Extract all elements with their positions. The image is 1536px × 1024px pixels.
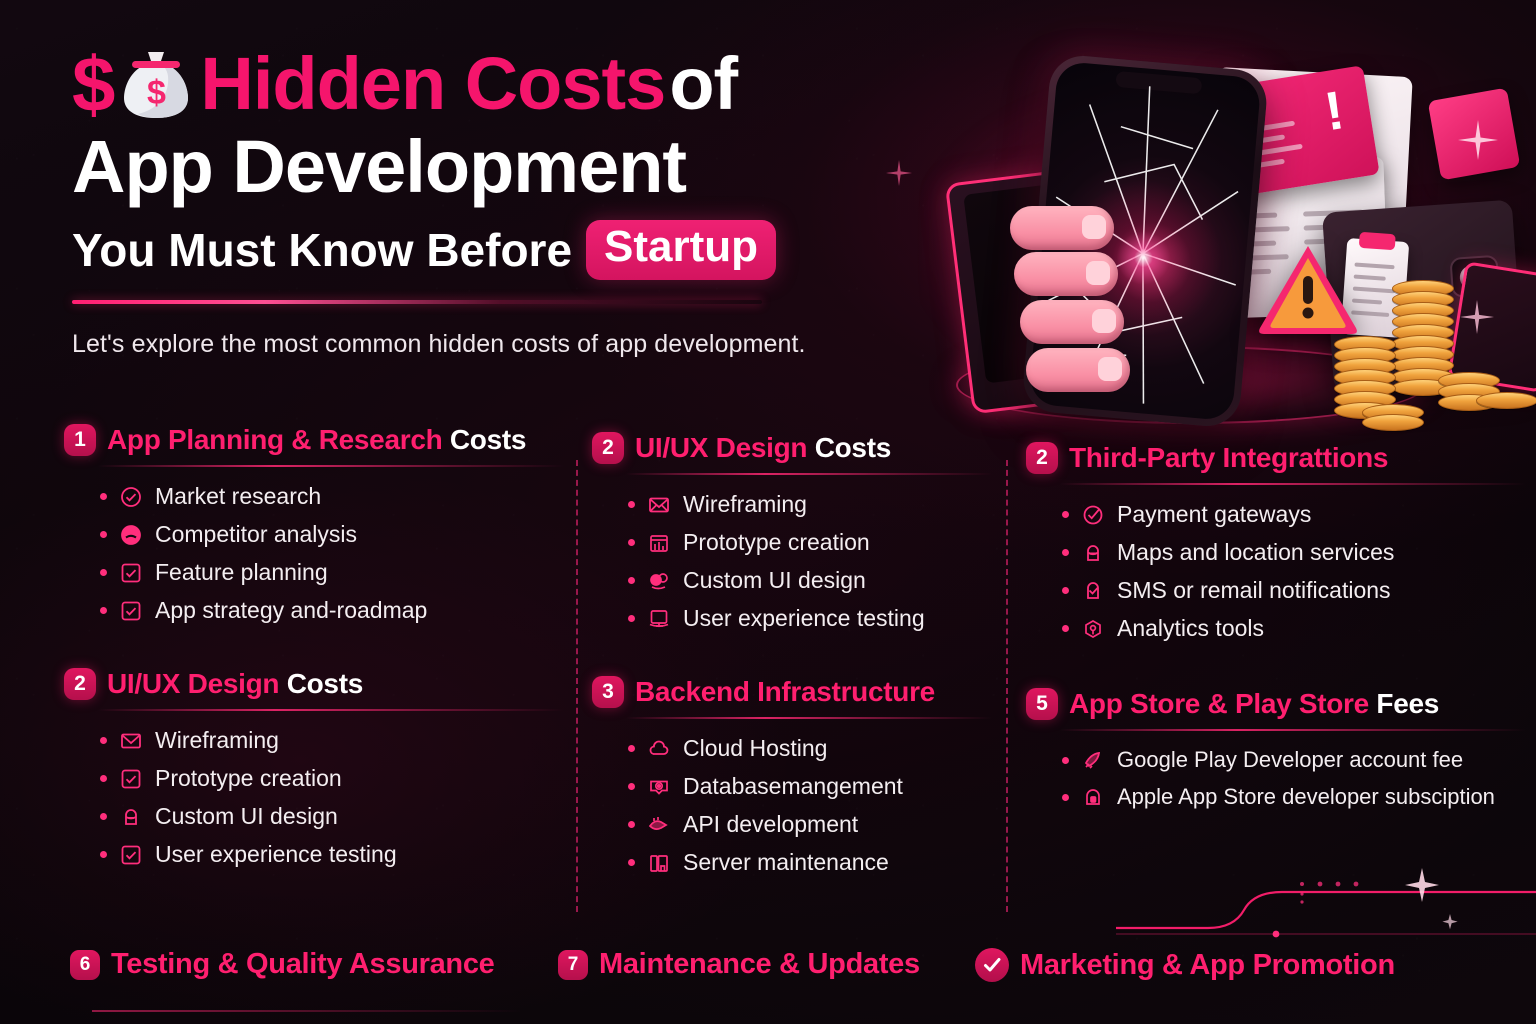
database-icon — [646, 774, 672, 800]
list-item-label: Maps and location services — [1117, 539, 1394, 566]
section-title: App Planning & Research Costs — [107, 424, 526, 456]
section-card: 2 UI/UX Design Costs Wireframing — [592, 432, 992, 632]
envelope-icon — [646, 492, 672, 518]
section-item-list: Wireframing Prototype creation Custom UI… — [628, 491, 992, 632]
header-divider — [72, 300, 762, 304]
section-number-badge: 2 — [592, 432, 624, 464]
section-number-badge: 3 — [592, 676, 624, 708]
analytics-icon — [1080, 616, 1106, 642]
list-item: Wireframing — [100, 727, 564, 754]
section-header: 2 Third-Party Integrattions — [1026, 442, 1526, 474]
envelope-icon — [118, 728, 144, 754]
page-subtitle-prefix: You Must Know Before — [72, 223, 572, 277]
section-title-pink: App Store & Play Store — [1069, 688, 1369, 719]
check-circle-icon — [118, 484, 144, 510]
section-underline — [626, 717, 992, 719]
list-item-label: Prototype creation — [155, 765, 342, 792]
column-1: 1 App Planning & Research Costs Market r… — [64, 424, 564, 879]
dollar-sign-icon: $ — [72, 46, 114, 122]
check-icon — [975, 948, 1009, 982]
bottom-item-label: Maintenance & Updates — [599, 948, 920, 981]
list-item-label: Analytics tools — [1117, 615, 1264, 642]
list-item-label: User experience testing — [155, 841, 397, 868]
coin-stacks-icon — [1334, 280, 1534, 430]
section-title: UI/UX Design Costs — [107, 668, 363, 700]
section-header: 5 App Store & Play Store Fees — [1026, 688, 1526, 720]
section-item-list: Google Play Developer account fee Apple … — [1062, 747, 1526, 810]
section-title-pink: UI/UX Design — [107, 668, 279, 699]
check-badge-icon — [1080, 578, 1106, 604]
list-item-label: Custom UI design — [683, 567, 866, 594]
section-item-list: Wireframing Prototype creation Custom UI… — [100, 727, 564, 868]
page-subtitle-line: You Must Know Before Startup — [72, 220, 892, 280]
section-underline — [98, 465, 564, 467]
list-item-label: Wireframing — [683, 491, 807, 518]
section-title-white: Costs — [450, 424, 526, 455]
section-title-pink: Third-Party Integrattions — [1069, 442, 1388, 473]
section-number-badge: 1 — [64, 424, 96, 456]
bottom-item-label: Marketing & App Promotion — [1020, 949, 1395, 982]
hero-illustration: ! — [860, 10, 1520, 430]
sections-grid: 1 App Planning & Research Costs Market r… — [0, 424, 1536, 944]
section-header: 3 Backend Infrastructure — [592, 676, 992, 708]
bullet-dot — [628, 745, 635, 752]
section-item-list: Market research Competitor analysis Feat… — [100, 483, 564, 624]
list-item: Cloud Hosting — [628, 735, 992, 762]
list-item: Google Play Developer account fee — [1062, 747, 1526, 773]
startup-pill: Startup — [586, 220, 776, 280]
bullet-dot — [1062, 757, 1069, 764]
infographic-canvas: ! — [0, 0, 1536, 1024]
section-title: App Store & Play Store Fees — [1069, 688, 1439, 720]
list-item: Analytics tools — [1062, 615, 1526, 642]
pink-box-icon — [1428, 88, 1521, 181]
bottom-item-label: Testing & Quality Assurance — [111, 948, 495, 981]
section-title-white: Costs — [287, 668, 363, 699]
section-underline — [1060, 729, 1526, 731]
check-square-icon — [118, 560, 144, 586]
bullet-dot — [100, 607, 107, 614]
bullet-dot — [100, 851, 107, 858]
monitor-icon — [646, 606, 672, 632]
cloud-icon — [646, 736, 672, 762]
list-item: Custom UI design — [100, 803, 564, 830]
list-item: Databasemangement — [628, 773, 992, 800]
bullet-dot — [628, 577, 635, 584]
chat-bubble-icon — [118, 522, 144, 548]
page-title-highlight: Hidden Costs — [200, 48, 665, 121]
bullet-dot — [100, 737, 107, 744]
header: $ $ Hidden Costs of App Development You … — [72, 46, 892, 359]
column-2: 2 UI/UX Design Costs Wireframing — [592, 432, 992, 887]
list-item-label: Wireframing — [155, 727, 279, 754]
bullet-dot — [1062, 511, 1069, 518]
list-item: Apple App Store developer subsciption — [1062, 784, 1526, 810]
section-title-pink: App Planning & Research — [107, 424, 442, 455]
map-pin-icon — [118, 804, 144, 830]
list-item-label: Cloud Hosting — [683, 735, 827, 762]
list-item-label: Prototype creation — [683, 529, 870, 556]
list-item: Competitor analysis — [100, 521, 564, 548]
list-item: Feature planning — [100, 559, 564, 586]
section-number-badge: 7 — [558, 950, 588, 980]
bullet-dot — [100, 813, 107, 820]
list-item-label: Custom UI design — [155, 803, 338, 830]
bullet-dot — [628, 859, 635, 866]
page-title-line2: App Development — [72, 128, 892, 206]
list-item-label: Databasemangement — [683, 773, 903, 800]
section-card: 2 Third-Party Integrattions Payment gate… — [1026, 442, 1526, 642]
list-item-label: User experience testing — [683, 605, 925, 632]
list-item-label: API development — [683, 811, 858, 838]
bottom-item-testing: 6 Testing & Quality Assurance — [70, 948, 495, 981]
check-square-icon — [118, 598, 144, 624]
list-item-label: Competitor analysis — [155, 521, 357, 548]
bullet-dot — [628, 783, 635, 790]
bullet-dot — [628, 821, 635, 828]
page-title-line1: $ $ Hidden Costs of — [72, 46, 892, 122]
rocket-icon — [1080, 747, 1106, 773]
section-underline — [98, 709, 564, 711]
section-item-list: Cloud Hosting Databasemangement API deve… — [628, 735, 992, 876]
list-item: Maps and location services — [1062, 539, 1526, 566]
list-item-label: Market research — [155, 483, 321, 510]
server-icon — [646, 850, 672, 876]
list-item: Prototype creation — [100, 765, 564, 792]
bullet-dot — [628, 539, 635, 546]
list-item: SMS or remail notifications — [1062, 577, 1526, 604]
section-header: 2 UI/UX Design Costs — [64, 668, 564, 700]
bullet-dot — [100, 531, 107, 538]
money-bag-icon: $ — [118, 48, 194, 120]
section-number-badge: 2 — [1026, 442, 1058, 474]
lock-icon — [1080, 784, 1106, 810]
list-item-label: Payment gateways — [1117, 501, 1311, 528]
section-card: 1 App Planning & Research Costs Market r… — [64, 424, 564, 624]
list-item-label: Server maintenance — [683, 849, 889, 876]
section-title-pink: UI/UX Design — [635, 432, 807, 463]
bullet-dot — [628, 501, 635, 508]
section-title: Third-Party Integrattions — [1069, 442, 1388, 474]
list-item-label: SMS or remail notifications — [1117, 577, 1391, 604]
section-item-list: Payment gateways Maps and location servi… — [1062, 501, 1526, 642]
bullet-dot — [1062, 625, 1069, 632]
list-item: Custom UI design — [628, 567, 992, 594]
list-item: Server maintenance — [628, 849, 992, 876]
section-title: UI/UX Design Costs — [635, 432, 891, 464]
check-square-icon — [118, 842, 144, 868]
section-underline — [626, 473, 992, 475]
section-title-pink: Backend Infrastructure — [635, 676, 935, 707]
column-3: 2 Third-Party Integrattions Payment gate… — [1026, 442, 1526, 821]
section-header: 1 App Planning & Research Costs — [64, 424, 564, 456]
section-header: 2 UI/UX Design Costs — [592, 432, 992, 464]
section-card: 3 Backend Infrastructure Cloud Hosting — [592, 676, 992, 876]
bar-chart-icon — [646, 530, 672, 556]
section-title-white: Costs — [815, 432, 891, 463]
section-card: 5 App Store & Play Store Fees Google Pla… — [1026, 688, 1526, 810]
bullet-dot — [1062, 587, 1069, 594]
list-item: API development — [628, 811, 992, 838]
section-title-white: Fees — [1376, 688, 1439, 719]
bullet-dot — [1062, 549, 1069, 556]
list-item: Wireframing — [628, 491, 992, 518]
section-underline — [1060, 483, 1526, 485]
bottom-item-marketing: Marketing & App Promotion — [975, 948, 1395, 982]
bullet-dot — [628, 615, 635, 622]
list-item-label: Google Play Developer account fee — [1117, 747, 1463, 773]
page-title-of: of — [669, 48, 737, 121]
bullet-dot — [100, 569, 107, 576]
section-number-badge: 6 — [70, 950, 100, 980]
list-item-label: Feature planning — [155, 559, 328, 586]
section-number-badge: 5 — [1026, 688, 1058, 720]
page-description: Let's explore the most common hidden cos… — [72, 330, 892, 359]
list-item: Market research — [100, 483, 564, 510]
api-icon — [646, 812, 672, 838]
check-square-icon — [118, 766, 144, 792]
list-item: Prototype creation — [628, 529, 992, 556]
check-circle-icon — [1080, 502, 1106, 528]
shapes-icon — [646, 568, 672, 594]
section-number-badge: 2 — [64, 668, 96, 700]
bullet-dot — [1062, 794, 1069, 801]
list-item-label: App strategy and-roadmap — [155, 597, 427, 624]
column-divider-2 — [1006, 460, 1008, 912]
list-item-label: Apple App Store developer subsciption — [1117, 784, 1495, 810]
list-item: User experience testing — [100, 841, 564, 868]
list-item: App strategy and-roadmap — [100, 597, 564, 624]
bullet-dot — [100, 493, 107, 500]
svg-text:$: $ — [147, 74, 166, 112]
bottom-item-maintenance: 7 Maintenance & Updates — [558, 948, 920, 981]
list-item: Payment gateways — [1062, 501, 1526, 528]
list-item: User experience testing — [628, 605, 992, 632]
column-divider-1 — [576, 460, 578, 912]
hand-icon — [1010, 206, 1122, 406]
section-card: 2 UI/UX Design Costs Wireframing — [64, 668, 564, 868]
section-title: Backend Infrastructure — [635, 676, 935, 708]
bullet-dot — [100, 775, 107, 782]
bottom-bar: 6 Testing & Quality Assurance 7 Maintena… — [0, 948, 1536, 1024]
map-pin-icon — [1080, 540, 1106, 566]
